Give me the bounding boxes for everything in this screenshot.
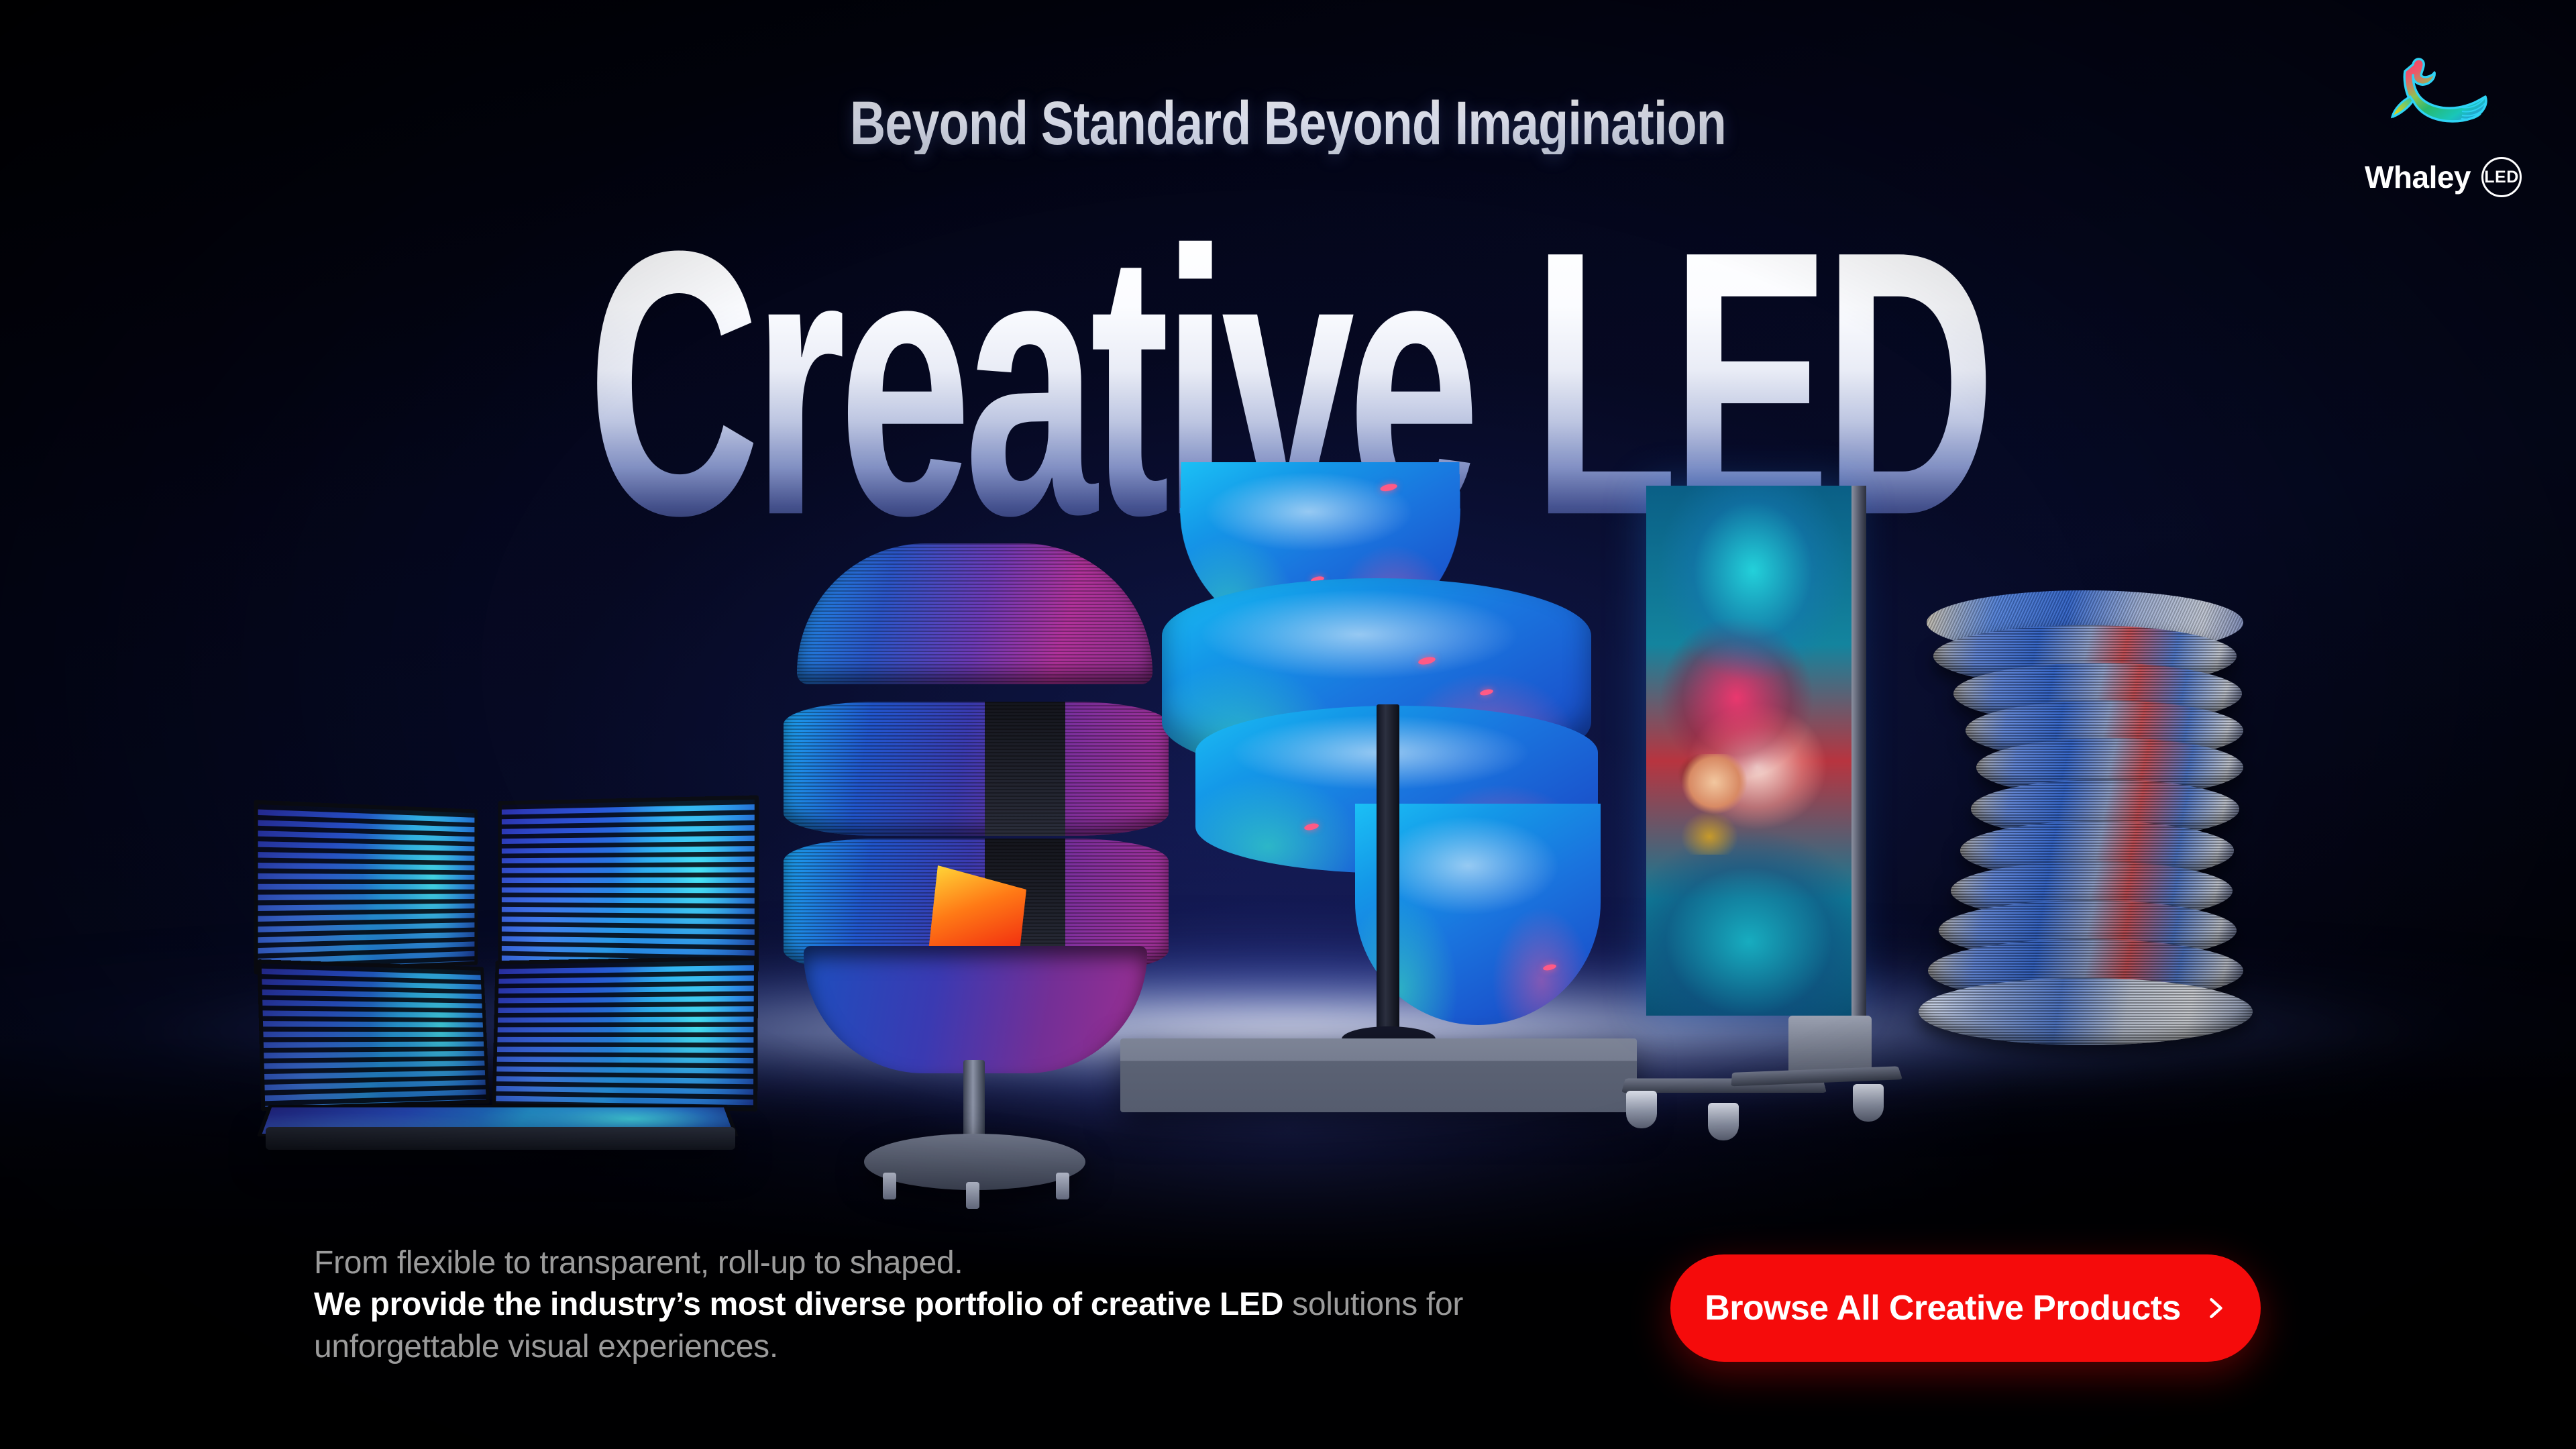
product-showcase (0, 429, 2576, 1181)
poster-column-foot (1788, 1016, 1872, 1073)
brand-logo[interactable]: Whaley LED (2356, 52, 2530, 197)
led-badge: LED (2481, 157, 2522, 197)
chevron-right-icon (2204, 1297, 2226, 1320)
poster-side-bezel (1851, 486, 1866, 1016)
product-mobile-poster-led-display (1623, 470, 1919, 1154)
hero-description: From flexible to transparent, roll-up to… (314, 1242, 1656, 1368)
description-line-3: unforgettable visual experiences. (314, 1326, 1656, 1368)
cta-label: Browse All Creative Products (1705, 1288, 2181, 1328)
product-spiral-helix-led-display (1140, 436, 1637, 1147)
description-line-2-rest: solutions for (1283, 1287, 1463, 1322)
eyebrow-headline: Beyond Standard Beyond Imagination (258, 93, 2318, 154)
product-transparent-mesh-led-panel (248, 792, 771, 1147)
poster-screen (1646, 486, 1851, 1016)
product-stacked-ring-led-tower (1919, 590, 2321, 1154)
hero-banner: Beyond Standard Beyond Imagination Creat… (0, 0, 2576, 1449)
whale-logo-icon (2386, 52, 2500, 153)
description-strong: We provide the industry’s most diverse p… (314, 1287, 1283, 1322)
description-line-2: We provide the industry’s most diverse p… (314, 1284, 1656, 1326)
browse-all-creative-products-button[interactable]: Browse All Creative Products (1670, 1254, 2261, 1362)
description-line-1: From flexible to transparent, roll-up to… (314, 1242, 1656, 1284)
sphere-bottom-bowl (804, 946, 1147, 1073)
brand-name: Whaley (2365, 159, 2471, 195)
sphere-band-upper (784, 702, 1169, 836)
sphere-top-dome (797, 543, 1152, 684)
helix-center-mast (1377, 704, 1399, 1040)
